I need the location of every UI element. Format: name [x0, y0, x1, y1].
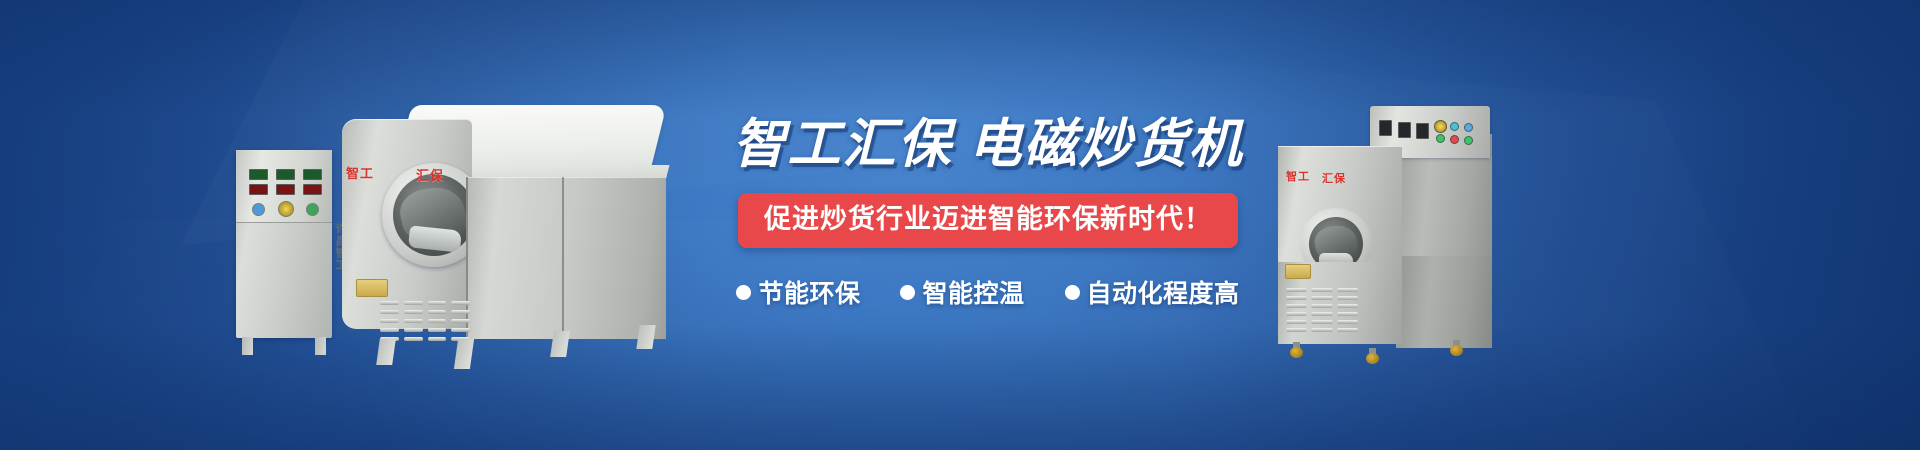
bullet-dot-icon: [900, 285, 915, 300]
display-meter-red: [249, 184, 268, 195]
caster-wheel: [1366, 348, 1379, 363]
indicator-led: [1436, 134, 1445, 143]
headline-part-1: 智工汇保: [733, 115, 953, 174]
subbanner-wrap: 促进炒货行业迈进智能环保新时代！: [708, 193, 1268, 248]
drum-opening: [393, 174, 475, 256]
display-meter-green: [249, 169, 268, 180]
left-machine-image: 许昌智工 智工 汇保: [236, 103, 666, 403]
machine-foot: [454, 339, 474, 369]
right-machine-lower-side-panel: [1396, 256, 1492, 348]
drum-front-plate: [342, 119, 472, 329]
ventilation-louvers: [1286, 288, 1358, 332]
right-machine-image: 智工 汇保: [1278, 106, 1498, 371]
control-knob: [252, 203, 265, 216]
feature-label: 智能控温: [922, 274, 1024, 310]
display-screen: [1398, 122, 1411, 138]
feature-label: 节能环保: [758, 274, 860, 310]
indicator-led: [1464, 123, 1473, 132]
bullet-dot-icon: [736, 285, 751, 300]
drum-blade: [408, 225, 462, 252]
spec-plate: [1285, 264, 1311, 279]
feature-item-0: 节能环保: [736, 274, 860, 310]
bullet-dot-icon: [1065, 285, 1080, 300]
display-screen: [1416, 123, 1429, 139]
ventilation-louvers: [380, 301, 470, 341]
display-meter-green: [276, 169, 295, 180]
right-machine-lower-body: [1278, 262, 1402, 344]
display-meter-red: [276, 184, 295, 195]
headline-part-2: 电磁炒货机: [969, 115, 1244, 174]
feature-list: 节能环保 智能控温 自动化程度高: [708, 274, 1268, 310]
indicator-led: [1450, 122, 1459, 131]
caster-wheel: [1290, 342, 1303, 357]
cabinet-door-seam: [562, 177, 564, 339]
banner-headline: 智工汇保电磁炒货机: [708, 118, 1268, 171]
right-machine-brand-right: 汇保: [1322, 170, 1346, 186]
left-machine-body: 智工 汇保: [316, 103, 666, 371]
machine-foot: [550, 331, 570, 357]
left-machine-brand-left: 智工: [346, 163, 374, 182]
machine-foot: [376, 339, 396, 365]
indicator-led: [1450, 135, 1459, 144]
caster-wheel: [1450, 340, 1463, 355]
banner-copy-block: 智工汇保电磁炒货机 促进炒货行业迈进智能环保新时代！ 节能环保 智能控温 自动化…: [708, 118, 1268, 310]
banner-subtitle-badge: 促进炒货行业迈进智能环保新时代！: [738, 193, 1238, 248]
feature-item-1: 智能控温: [900, 274, 1024, 310]
display-screen: [1379, 120, 1392, 136]
feature-label: 自动化程度高: [1087, 274, 1240, 310]
indicator-led: [1464, 136, 1473, 145]
machine-foot: [636, 325, 655, 349]
cabinet-legs: [242, 337, 326, 355]
right-machine-upper-body: 智工 汇保: [1278, 146, 1402, 264]
emergency-stop-led: [1434, 120, 1447, 133]
right-machine-brand-left: 智工: [1286, 168, 1310, 184]
left-machine-brand-right: 汇保: [416, 165, 444, 184]
emergency-stop-knob: [278, 201, 294, 217]
feature-item-2: 自动化程度高: [1065, 274, 1240, 310]
machine-cabinet: [466, 177, 666, 339]
spec-plate: [356, 279, 388, 297]
product-hero-banner: 许昌智工 智工 汇保: [0, 0, 1920, 450]
